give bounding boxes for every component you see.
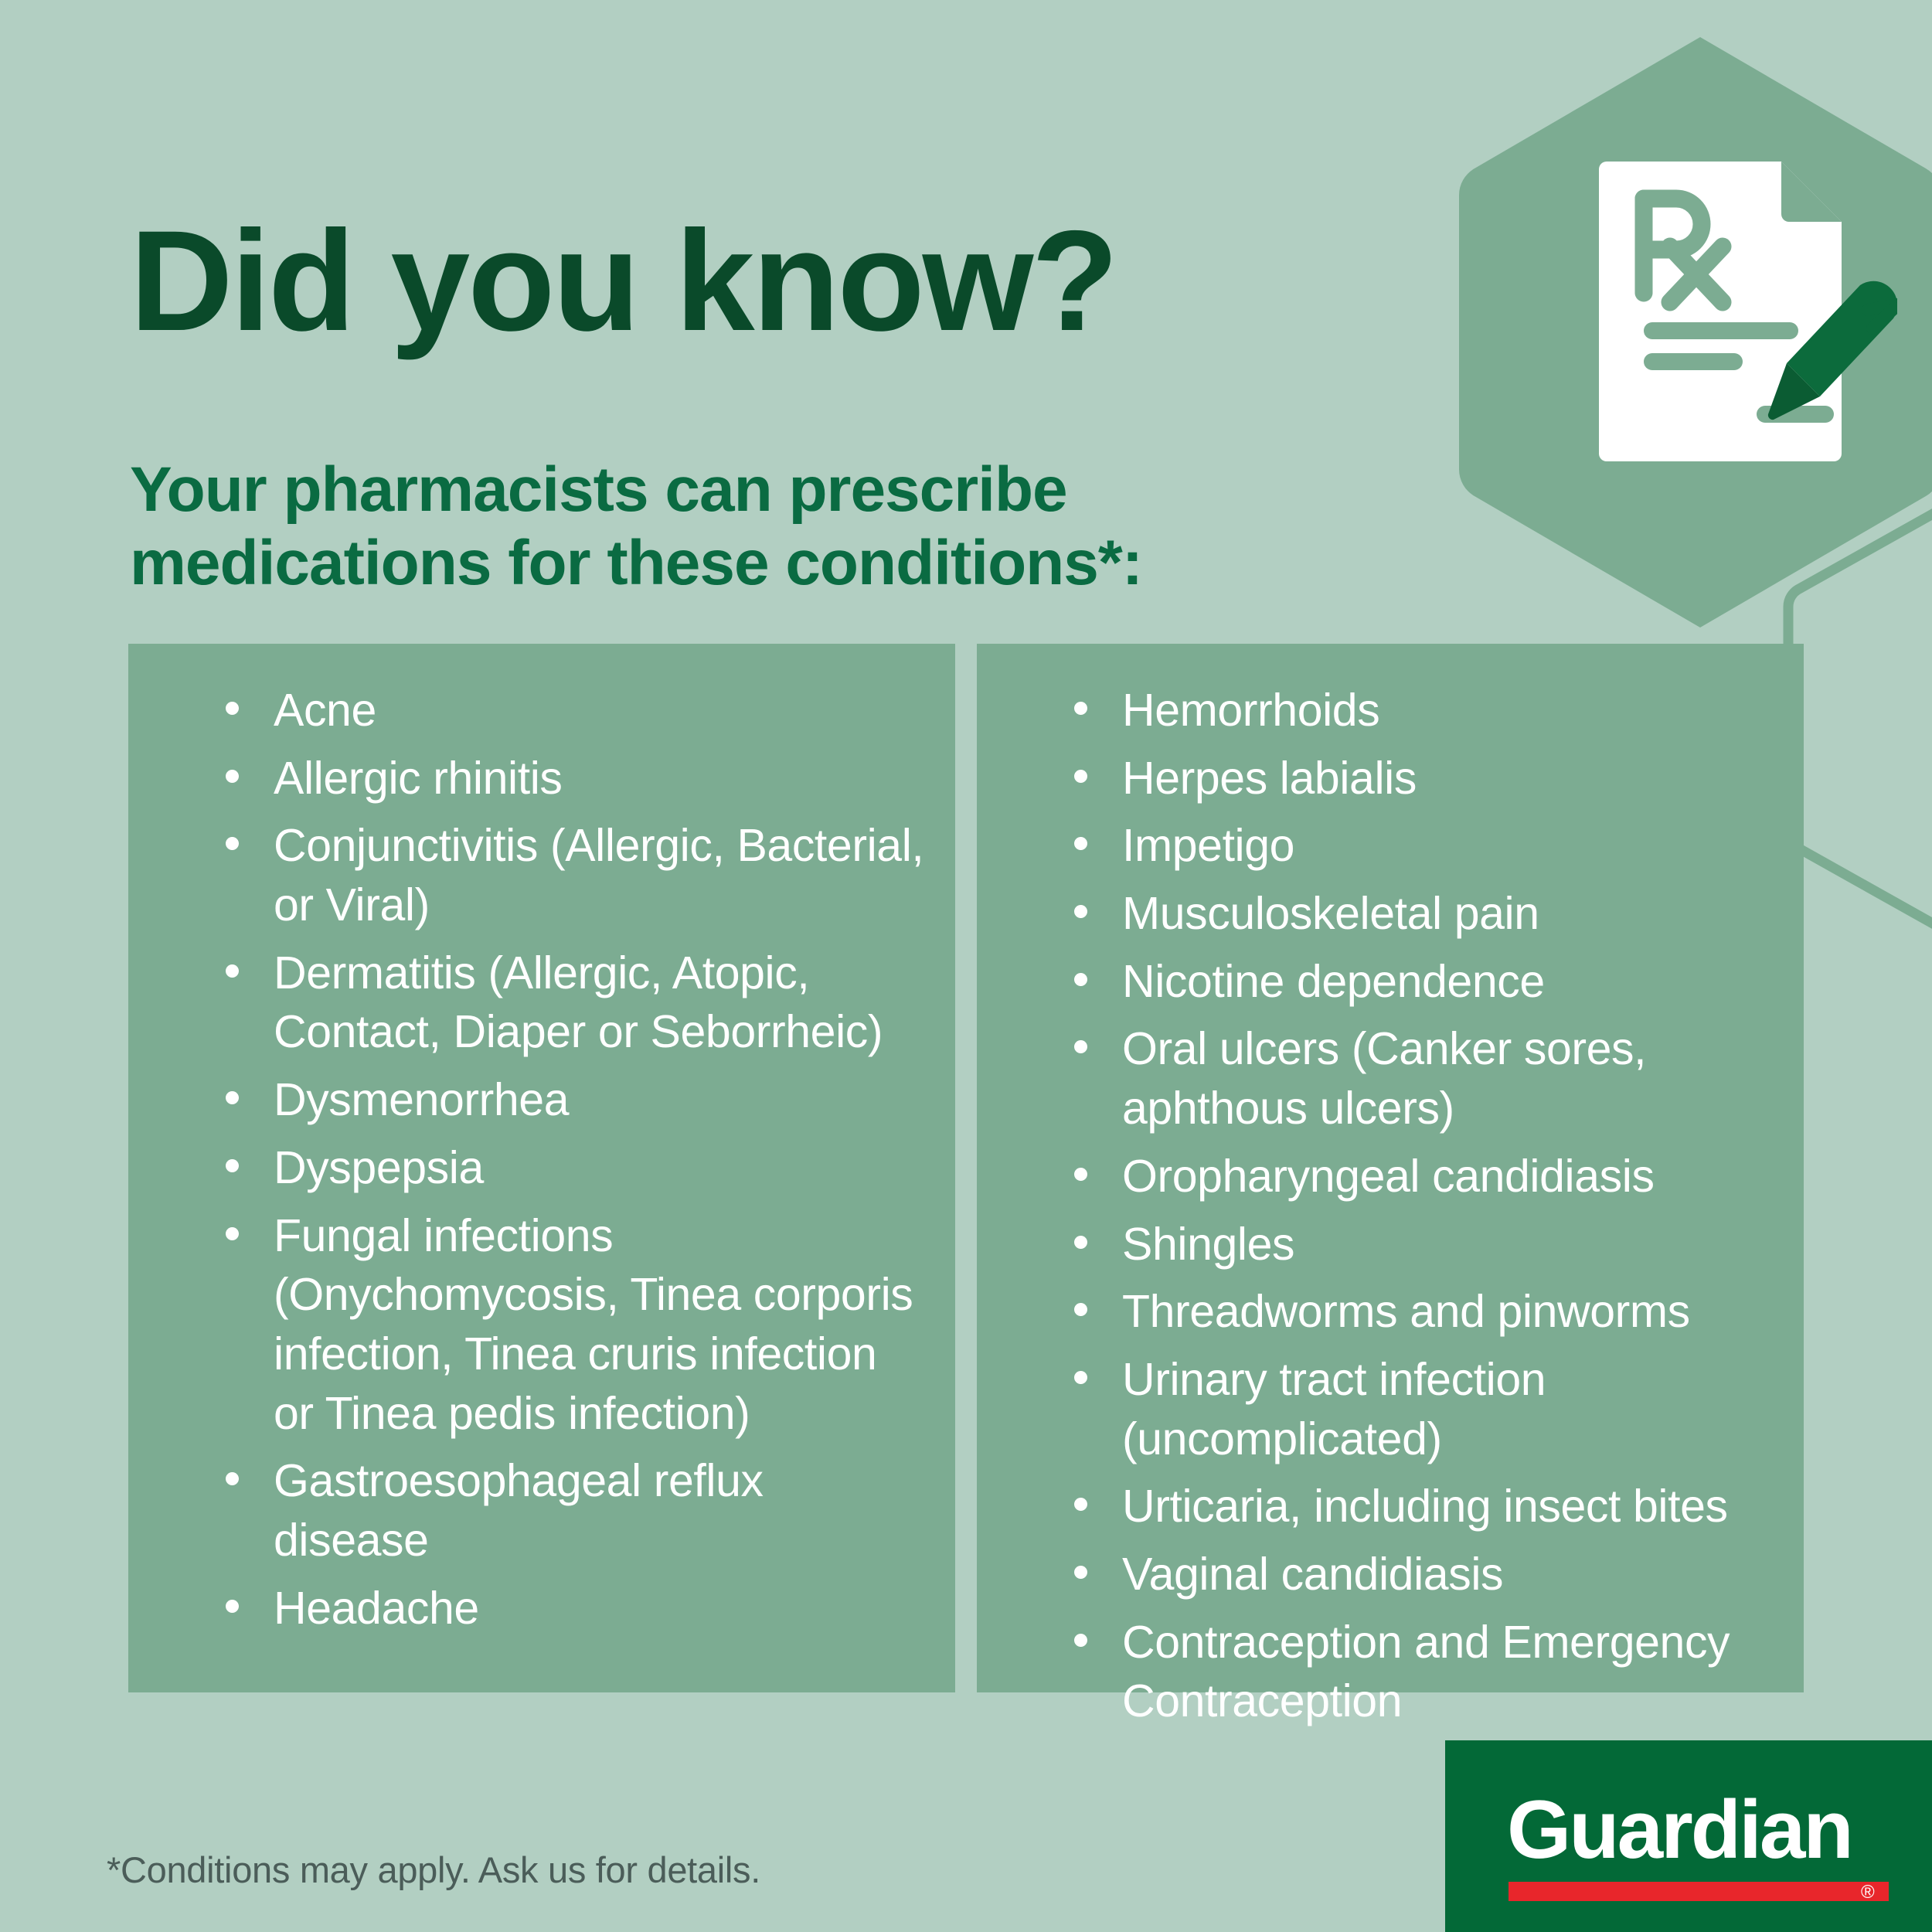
condition-item: Dysmenorrhea <box>159 1070 924 1130</box>
condition-label: Nicotine dependence <box>1122 956 1545 1007</box>
bullet-icon <box>1074 1566 1087 1579</box>
bullet-icon <box>1074 1634 1087 1647</box>
condition-item: Oral ulcers (Canker sores, aphthous ulce… <box>1008 1019 1773 1138</box>
conditions-list-left: AcneAllergic rhinitisConjunctivitis (All… <box>159 681 924 1638</box>
bullet-icon <box>226 702 239 715</box>
bullet-icon <box>226 1472 239 1485</box>
registered-trademark-mark: ® <box>1861 1883 1875 1902</box>
condition-item: Musculoskeletal pain <box>1008 884 1773 944</box>
page-title: Did you know? <box>130 210 1117 353</box>
condition-label: Urinary tract infection (uncomplicated) <box>1122 1354 1546 1464</box>
condition-label: Impetigo <box>1122 820 1294 871</box>
conditions-list-right: HemorrhoidsHerpes labialisImpetigoMuscul… <box>1008 681 1773 1731</box>
footnote: *Conditions may apply. Ask us for detail… <box>107 1849 760 1892</box>
bullet-icon <box>226 1600 239 1613</box>
page-subtitle: Your pharmacists can prescribe medicatio… <box>130 453 1142 600</box>
condition-item: Dyspepsia <box>159 1138 924 1198</box>
guardian-red-rule <box>1509 1882 1889 1901</box>
condition-item: Fungal infections (Onychomycosis, Tinea … <box>159 1206 924 1444</box>
condition-item: Acne <box>159 681 924 740</box>
condition-label: Headache <box>274 1583 479 1634</box>
condition-item: Urinary tract infection (uncomplicated) <box>1008 1350 1773 1468</box>
page-subtitle-line2: medications for these conditions*: <box>130 528 1142 598</box>
bullet-icon <box>1074 1498 1087 1511</box>
conditions-panel-left: AcneAllergic rhinitisConjunctivitis (All… <box>128 644 955 1692</box>
condition-label: Hemorrhoids <box>1122 685 1379 736</box>
condition-label: Gastroesophageal reflux disease <box>274 1455 764 1566</box>
condition-item: Hemorrhoids <box>1008 681 1773 740</box>
condition-item: Contraception and Emergency Contraceptio… <box>1008 1613 1773 1731</box>
condition-label: Urticaria, including insect bites <box>1122 1481 1728 1532</box>
condition-label: Acne <box>274 685 376 736</box>
bullet-icon <box>1074 702 1087 715</box>
bullet-icon <box>226 1227 239 1240</box>
bullet-icon <box>226 1159 239 1172</box>
bullet-icon <box>1074 1168 1087 1181</box>
condition-item: Conjunctivitis (Allergic, Bacterial, or … <box>159 816 924 934</box>
condition-item: Nicotine dependence <box>1008 952 1773 1012</box>
condition-label: Dysmenorrhea <box>274 1074 569 1125</box>
condition-label: Oral ulcers (Canker sores, aphthous ulce… <box>1122 1023 1646 1134</box>
condition-label: Threadworms and pinworms <box>1122 1286 1690 1337</box>
guardian-wordmark: Guardian <box>1507 1788 1852 1871</box>
conditions-panel-right: HemorrhoidsHerpes labialisImpetigoMuscul… <box>977 644 1804 1692</box>
bullet-icon <box>226 770 239 783</box>
condition-item: Allergic rhinitis <box>159 749 924 808</box>
condition-item: Impetigo <box>1008 816 1773 876</box>
bullet-icon <box>1074 1040 1087 1053</box>
condition-label: Musculoskeletal pain <box>1122 888 1539 939</box>
bullet-icon <box>1074 905 1087 918</box>
bullet-icon <box>226 1091 239 1104</box>
condition-item: Shingles <box>1008 1215 1773 1274</box>
bullet-icon <box>1074 1303 1087 1316</box>
condition-item: Gastroesophageal reflux disease <box>159 1451 924 1570</box>
bullet-icon <box>226 837 239 850</box>
bullet-icon <box>1074 1236 1087 1249</box>
condition-item: Urticaria, including insect bites <box>1008 1477 1773 1536</box>
condition-item: Vaginal candidiasis <box>1008 1545 1773 1604</box>
guardian-logo: Guardian ® <box>1445 1740 1932 1932</box>
bullet-icon <box>1074 837 1087 850</box>
condition-label: Conjunctivitis (Allergic, Bacterial, or … <box>274 820 923 930</box>
condition-label: Herpes labialis <box>1122 753 1417 804</box>
condition-item: Threadworms and pinworms <box>1008 1282 1773 1342</box>
condition-label: Contraception and Emergency Contraceptio… <box>1122 1617 1730 1727</box>
condition-item: Herpes labialis <box>1008 749 1773 808</box>
condition-label: Fungal infections (Onychomycosis, Tinea … <box>274 1210 913 1439</box>
condition-item: Oropharyngeal candidiasis <box>1008 1147 1773 1206</box>
condition-label: Shingles <box>1122 1219 1294 1270</box>
condition-label: Dyspepsia <box>274 1142 484 1193</box>
condition-label: Vaginal candidiasis <box>1122 1549 1503 1600</box>
condition-item: Dermatitis (Allergic, Atopic, Contact, D… <box>159 944 924 1062</box>
bullet-icon <box>1074 1371 1087 1384</box>
prescription-document-icon <box>1588 151 1897 475</box>
condition-label: Allergic rhinitis <box>274 753 563 804</box>
infographic-canvas: Did you know? Your pharmacists can presc… <box>0 0 1932 1932</box>
bullet-icon <box>226 964 239 978</box>
bullet-icon <box>1074 770 1087 783</box>
bullet-icon <box>1074 973 1087 986</box>
condition-label: Dermatitis (Allergic, Atopic, Contact, D… <box>274 947 883 1058</box>
page-subtitle-line1: Your pharmacists can prescribe <box>130 454 1067 525</box>
condition-label: Oropharyngeal candidiasis <box>1122 1151 1655 1202</box>
condition-item: Headache <box>159 1579 924 1638</box>
